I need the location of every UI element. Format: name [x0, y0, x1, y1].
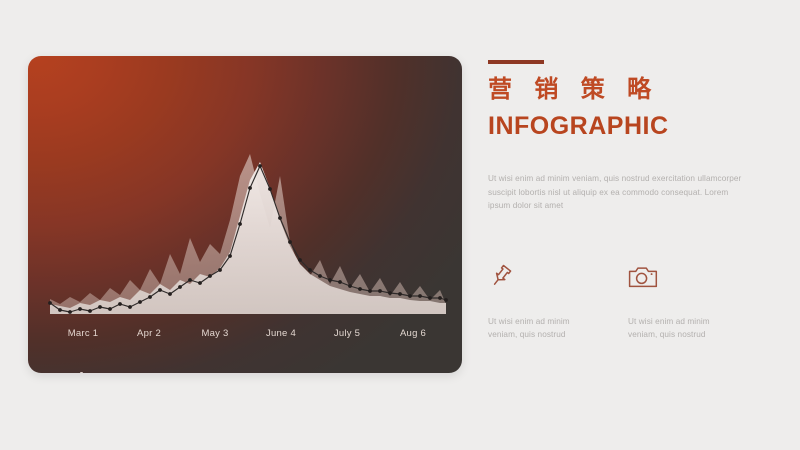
info-panel: 营 销 策 略 INFOGRAPHIC Ut wisi enim ad mini… — [488, 60, 772, 342]
page-title-en: INFOGRAPHIC — [488, 110, 772, 142]
pushpin-icon — [488, 255, 592, 289]
area-chart — [28, 56, 462, 373]
page-title-cn: 营 销 策 略 — [488, 74, 772, 104]
intro-paragraph: Ut wisi enim ad minim veniam, quis nostr… — [488, 172, 753, 213]
chart-card: Marc 1 Apr 2 May 3 June 4 July 5 Aug 6 U… — [28, 56, 462, 373]
caption-accent-bar — [80, 372, 83, 373]
card-caption-text: Ut wisi enim ad minim veniam, quis nostr… — [92, 370, 440, 373]
feature-item-camera: Ut wisi enim ad minim veniam, quis nostr… — [628, 255, 732, 342]
x-tick-label: June 4 — [248, 328, 314, 344]
x-tick-label: Apr 2 — [116, 328, 182, 344]
title-rule — [488, 60, 544, 64]
feature-caption: Ut wisi enim ad minim veniam, quis nostr… — [628, 315, 732, 342]
x-axis: Marc 1 Apr 2 May 3 June 4 July 5 Aug 6 — [50, 328, 446, 344]
feature-columns: Ut wisi enim ad minim veniam, quis nostr… — [488, 255, 772, 342]
x-tick-label: Aug 6 — [380, 328, 446, 344]
feature-item-pushpin: Ut wisi enim ad minim veniam, quis nostr… — [488, 255, 592, 342]
feature-caption: Ut wisi enim ad minim veniam, quis nostr… — [488, 315, 592, 342]
x-tick-label: July 5 — [314, 328, 380, 344]
x-tick-label: Marc 1 — [50, 328, 116, 344]
camera-icon — [628, 255, 732, 289]
x-tick-label: May 3 — [182, 328, 248, 344]
card-caption-block: Ut wisi enim ad minim veniam, quis nostr… — [80, 370, 440, 373]
